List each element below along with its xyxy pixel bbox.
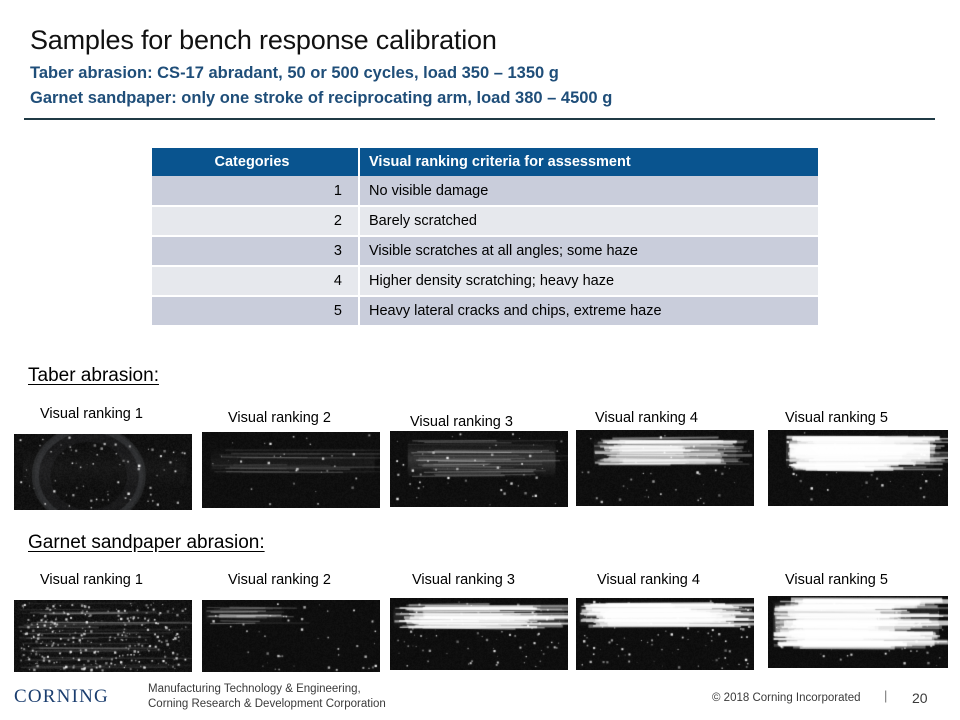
garnet-sample-label-5: Visual ranking 5: [785, 572, 888, 588]
table-row: 5 Heavy lateral cracks and chips, extrem…: [152, 296, 818, 326]
table-row: 2 Barely scratched: [152, 206, 818, 236]
cell-criteria: Heavy lateral cracks and chips, extreme …: [359, 296, 818, 326]
garnet-sample-2[interactable]: [202, 600, 380, 672]
garnet-sample-5[interactable]: [768, 596, 948, 668]
table-body: 1 No visible damage 2 Barely scratched 3…: [152, 176, 818, 326]
cell-category: 4: [152, 266, 359, 296]
cell-criteria: Higher density scratching; heavy haze: [359, 266, 818, 296]
page-number: 20: [912, 690, 928, 706]
garnet-sample-label-4: Visual ranking 4: [597, 572, 700, 588]
section-heading-garnet: Garnet sandpaper abrasion:: [28, 532, 265, 554]
garnet-sample-label-1: Visual ranking 1: [40, 572, 143, 588]
table-header-row: Categories Visual ranking criteria for a…: [152, 148, 818, 176]
cell-category: 3: [152, 236, 359, 266]
table-row: 3 Visible scratches at all angles; some …: [152, 236, 818, 266]
title-divider: [24, 118, 935, 120]
table-header: Categories Visual ranking criteria for a…: [152, 148, 818, 176]
cell-criteria: Visible scratches at all angles; some ha…: [359, 236, 818, 266]
taber-sample-label-3: Visual ranking 3: [410, 414, 513, 430]
cell-criteria: No visible damage: [359, 176, 818, 206]
column-header-categories: Categories: [152, 148, 359, 176]
table-row: 1 No visible damage: [152, 176, 818, 206]
garnet-sample-3[interactable]: [390, 598, 568, 670]
garnet-sample-1[interactable]: [14, 600, 192, 672]
taber-sample-2[interactable]: [202, 432, 380, 508]
subtitle-taber: Taber abrasion: CS-17 abradant, 50 or 50…: [30, 62, 930, 84]
table-row: 4 Higher density scratching; heavy haze: [152, 266, 818, 296]
visual-ranking-table: Categories Visual ranking criteria for a…: [152, 148, 818, 327]
taber-sample-3[interactable]: [390, 431, 568, 507]
taber-sample-5[interactable]: [768, 430, 948, 506]
page-title: Samples for bench response calibration: [30, 24, 930, 56]
slide-canvas: Samples for bench response calibration T…: [0, 0, 960, 720]
section-heading-taber: Taber abrasion:: [28, 365, 159, 387]
garnet-sample-4[interactable]: [576, 598, 754, 670]
taber-sample-label-5: Visual ranking 5: [785, 410, 888, 426]
garnet-sample-label-2: Visual ranking 2: [228, 572, 331, 588]
footer-organization: Manufacturing Technology & Engineering, …: [148, 682, 386, 712]
footer-org-line-1: Manufacturing Technology & Engineering,: [148, 682, 386, 697]
subtitle-garnet: Garnet sandpaper: only one stroke of rec…: [30, 87, 930, 109]
cell-category: 2: [152, 206, 359, 236]
taber-sample-4[interactable]: [576, 430, 754, 506]
footer-copyright: © 2018 Corning Incorporated: [712, 692, 860, 704]
corning-logo: CORNING: [14, 686, 109, 708]
taber-sample-label-4: Visual ranking 4: [595, 410, 698, 426]
garnet-sample-label-3: Visual ranking 3: [412, 572, 515, 588]
column-header-criteria: Visual ranking criteria for assessment: [359, 148, 818, 176]
taber-sample-label-2: Visual ranking 2: [228, 410, 331, 426]
footer-separator: |: [884, 688, 887, 703]
taber-sample-1[interactable]: [14, 434, 192, 510]
footer-org-line-2: Corning Research & Development Corporati…: [148, 697, 386, 712]
taber-sample-label-1: Visual ranking 1: [40, 406, 143, 422]
cell-criteria: Barely scratched: [359, 206, 818, 236]
cell-category: 5: [152, 296, 359, 326]
cell-category: 1: [152, 176, 359, 206]
